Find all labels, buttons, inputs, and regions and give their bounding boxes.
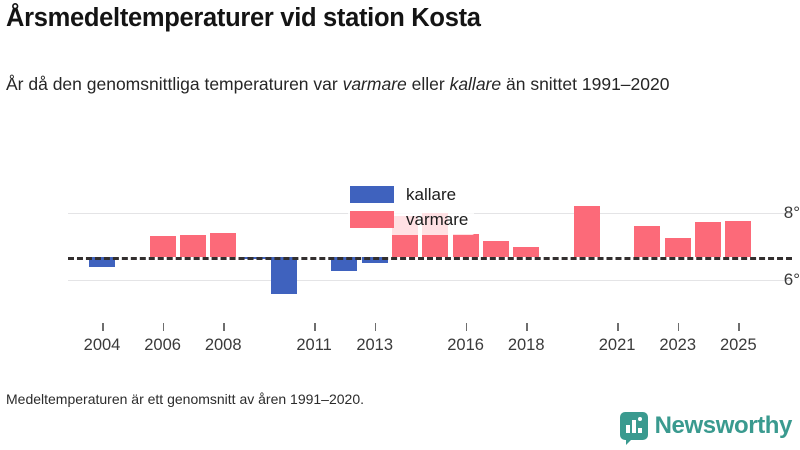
legend-label-warm: varmare xyxy=(406,211,468,228)
x-axis-tick-label: 2013 xyxy=(345,337,405,354)
x-axis-tick xyxy=(375,323,377,331)
x-axis-tick-label: 2006 xyxy=(133,337,193,354)
average-baseline xyxy=(68,257,792,260)
x-axis-tick-label: 2021 xyxy=(587,337,647,354)
legend-swatch-cold xyxy=(350,186,394,203)
bar-2008[interactable] xyxy=(210,233,236,256)
bar-2023[interactable] xyxy=(665,238,691,256)
x-axis-tick-label: 2008 xyxy=(193,337,253,354)
x-axis-tick xyxy=(223,323,225,331)
x-axis-tick-label: 2004 xyxy=(72,337,132,354)
chart-page: Årsmedeltemperaturer vid station Kosta Å… xyxy=(0,0,800,450)
x-axis-tick-label: 2011 xyxy=(284,337,344,354)
bar-2007[interactable] xyxy=(180,235,206,256)
x-axis-tick xyxy=(102,323,104,331)
bar-2006[interactable] xyxy=(150,236,176,257)
bar-2025[interactable] xyxy=(725,221,751,257)
legend-label-cold: kallare xyxy=(406,186,456,203)
bar-2016[interactable] xyxy=(453,234,479,256)
source-note: Medeltemperaturen är ett genomsnitt av å… xyxy=(6,390,626,408)
y-axis-tick-label: 8° xyxy=(754,204,800,221)
gridline-6° xyxy=(68,280,792,281)
bar-2020[interactable] xyxy=(574,206,600,256)
bar-2018[interactable] xyxy=(513,247,539,257)
legend-swatch-warm xyxy=(350,211,394,228)
x-axis-tick xyxy=(163,323,165,331)
x-axis-tick xyxy=(738,323,740,331)
x-axis-tick xyxy=(526,323,528,331)
newsworthy-logo[interactable]: Newsworthy xyxy=(620,412,792,440)
x-axis-tick xyxy=(466,323,468,331)
x-axis-tick xyxy=(617,323,619,331)
legend-item-cold[interactable]: kallare xyxy=(350,182,468,207)
chart-legend: kallarevarmare xyxy=(348,180,474,235)
x-axis-tick xyxy=(678,323,680,331)
bar-2022[interactable] xyxy=(634,226,660,256)
logo-wordmark: Newsworthy xyxy=(655,414,792,438)
legend-item-warm[interactable]: varmare xyxy=(350,207,468,232)
x-axis-tick-label: 2023 xyxy=(648,337,708,354)
x-axis-tick-label: 2025 xyxy=(708,337,768,354)
bar-2024[interactable] xyxy=(695,222,721,256)
x-axis-tick-label: 2018 xyxy=(496,337,556,354)
y-axis-tick-label: 6° xyxy=(754,271,800,288)
bar-chart-bubble-icon xyxy=(620,412,648,440)
x-axis-tick xyxy=(314,323,316,331)
bar-2017[interactable] xyxy=(483,241,509,256)
bar-2010[interactable] xyxy=(271,257,297,295)
x-axis-tick-label: 2016 xyxy=(436,337,496,354)
